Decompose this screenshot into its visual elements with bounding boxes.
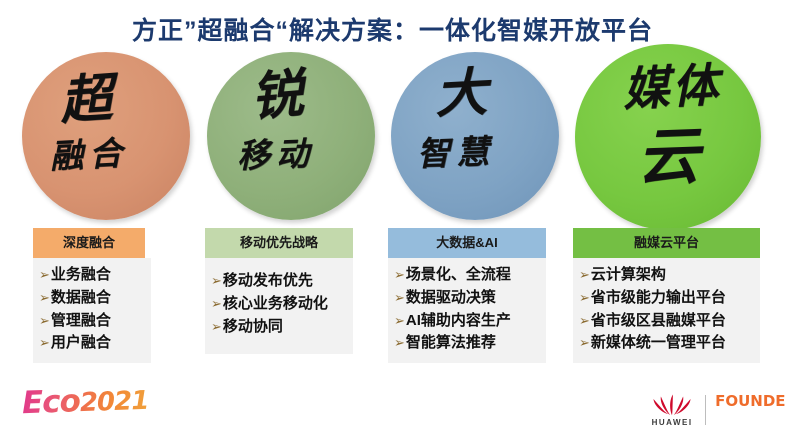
list-item: ➢数据驱动决策 <box>388 287 546 310</box>
panel-4-header: 融媒云平台 <box>573 228 760 258</box>
list-item-label: 数据融合 <box>51 289 111 306</box>
list-item: ➢智能算法推荐 <box>388 332 546 355</box>
list-item-label: 场景化、全流程 <box>406 266 511 283</box>
list-item: ➢场景化、全流程 <box>388 264 546 287</box>
list-item: ➢省市级区县融媒平台 <box>573 310 760 333</box>
list-item-label: 用户融合 <box>51 334 111 351</box>
panel-4-list: ➢云计算架构 ➢省市级能力输出平台 ➢省市级区县融媒平台 ➢新媒体统一管理平台 <box>573 264 760 355</box>
huawei-wordmark: HUAWEI <box>652 418 693 427</box>
list-item-label: 管理融合 <box>51 312 111 329</box>
circle-rui-yi-dong: 锐 移动 <box>207 52 375 220</box>
panel-3-body: ➢场景化、全流程 ➢数据驱动决策 ➢AI辅助内容生产 ➢智能算法推荐 <box>388 258 546 363</box>
list-item-label: 移动发布优先 <box>223 272 313 289</box>
panel-4-body: ➢云计算架构 ➢省市级能力输出平台 ➢省市级区县融媒平台 ➢新媒体统一管理平台 <box>573 258 760 363</box>
circle-4-top-char: 媒体 <box>622 61 722 112</box>
circle-2-top-char: 锐 <box>249 68 305 124</box>
list-item: ➢移动协同 <box>205 316 353 339</box>
circle-2-bottom-char: 移动 <box>236 137 315 173</box>
list-item: ➢管理融合 <box>33 310 151 333</box>
panel-1-list: ➢业务融合 ➢数据融合 ➢管理融合 ➢用户融合 <box>33 264 151 355</box>
bullet-icon: ➢ <box>579 335 590 350</box>
slide-canvas: 方正”超融合“解决方案：一体化智媒开放平台 超 融合 锐 移动 大 智慧 媒体 … <box>0 0 785 441</box>
founder-wordmark-en: FOUNDER <box>715 392 785 410</box>
list-item-label: 新媒体统一管理平台 <box>591 334 726 351</box>
list-item: ➢云计算架构 <box>573 264 760 287</box>
list-item: ➢用户融合 <box>33 332 151 355</box>
eco-logo-year: 2021 <box>79 386 148 418</box>
bullet-icon: ➢ <box>579 313 590 328</box>
list-item-label: 省市级能力输出平台 <box>591 289 726 306</box>
list-item-label: 核心业务移动化 <box>223 295 328 312</box>
huawei-logo: HUAWEI <box>648 392 696 427</box>
list-item-label: 移动协同 <box>223 318 283 335</box>
list-item-label: 云计算架构 <box>591 266 666 283</box>
circle-1-bottom-char: 融合 <box>49 136 129 173</box>
circle-chao-rong-he: 超 融合 <box>22 52 190 220</box>
bullet-icon: ➢ <box>579 290 590 305</box>
bullet-icon: ➢ <box>579 267 590 282</box>
bullet-icon: ➢ <box>39 290 50 305</box>
circle-3-top-char: 大 <box>434 67 489 122</box>
list-item: ➢AI辅助内容生产 <box>388 310 546 333</box>
list-item: ➢新媒体统一管理平台 <box>573 332 760 355</box>
list-item: ➢数据融合 <box>33 287 151 310</box>
list-item: ➢移动发布优先 <box>205 270 353 293</box>
page-title: 方正”超融合“解决方案：一体化智媒开放平台 <box>0 11 785 47</box>
list-item: ➢业务融合 <box>33 264 151 287</box>
circle-mei-ti-yun: 媒体 云 <box>575 44 761 230</box>
bullet-icon: ➢ <box>394 267 405 282</box>
bullet-icon: ➢ <box>211 296 222 311</box>
circle-3-bottom-char: 智慧 <box>416 135 495 171</box>
panel-1-header: 深度融合 <box>33 228 145 258</box>
eco-2021-logo: Eco2021 <box>21 381 148 421</box>
panel-big-data-ai: 大数据&AI ➢场景化、全流程 ➢数据驱动决策 ➢AI辅助内容生产 ➢智能算法推… <box>388 228 546 363</box>
founder-logo: FOUNDER 方正 <box>715 392 785 427</box>
list-item-label: 数据驱动决策 <box>406 289 496 306</box>
panel-2-body: ➢移动发布优先 ➢核心业务移动化 ➢移动协同 <box>205 258 353 354</box>
bullet-icon: ➢ <box>394 313 405 328</box>
huawei-flower-icon <box>653 392 691 416</box>
panel-1-body: ➢业务融合 ➢数据融合 ➢管理融合 ➢用户融合 <box>33 258 151 363</box>
bullet-icon: ➢ <box>394 335 405 350</box>
eco-logo-text: Eco <box>21 383 80 421</box>
bullet-icon: ➢ <box>39 313 50 328</box>
bullet-icon: ➢ <box>39 267 50 282</box>
panel-3-header: 大数据&AI <box>388 228 546 258</box>
panel-deep-integration: 深度融合 ➢业务融合 ➢数据融合 ➢管理融合 ➢用户融合 <box>33 228 151 363</box>
panel-media-cloud-platform: 融媒云平台 ➢云计算架构 ➢省市级能力输出平台 ➢省市级区县融媒平台 ➢新媒体统… <box>573 228 760 363</box>
list-item-label: 省市级区县融媒平台 <box>591 312 726 329</box>
panel-3-list: ➢场景化、全流程 ➢数据驱动决策 ➢AI辅助内容生产 ➢智能算法推荐 <box>388 264 546 355</box>
list-item: ➢核心业务移动化 <box>205 293 353 316</box>
circle-da-zhi-hui: 大 智慧 <box>391 52 559 220</box>
list-item-label: 智能算法推荐 <box>406 334 496 351</box>
footer-logos: HUAWEI FOUNDER 方正 <box>648 392 785 427</box>
list-item-label: AI辅助内容生产 <box>406 312 511 329</box>
logo-divider <box>705 395 706 425</box>
panel-mobile-first-strategy: 移动优先战略 ➢移动发布优先 ➢核心业务移动化 ➢移动协同 <box>205 228 353 354</box>
bullet-icon: ➢ <box>211 273 222 288</box>
bullet-icon: ➢ <box>394 290 405 305</box>
circle-4-bottom-char: 云 <box>636 125 700 189</box>
panel-2-list: ➢移动发布优先 ➢核心业务移动化 ➢移动协同 <box>205 270 353 338</box>
circle-1-top-char: 超 <box>58 72 114 128</box>
bullet-icon: ➢ <box>211 319 222 334</box>
list-item-label: 业务融合 <box>51 266 111 283</box>
bullet-icon: ➢ <box>39 335 50 350</box>
list-item: ➢省市级能力输出平台 <box>573 287 760 310</box>
panel-2-header: 移动优先战略 <box>205 228 353 258</box>
